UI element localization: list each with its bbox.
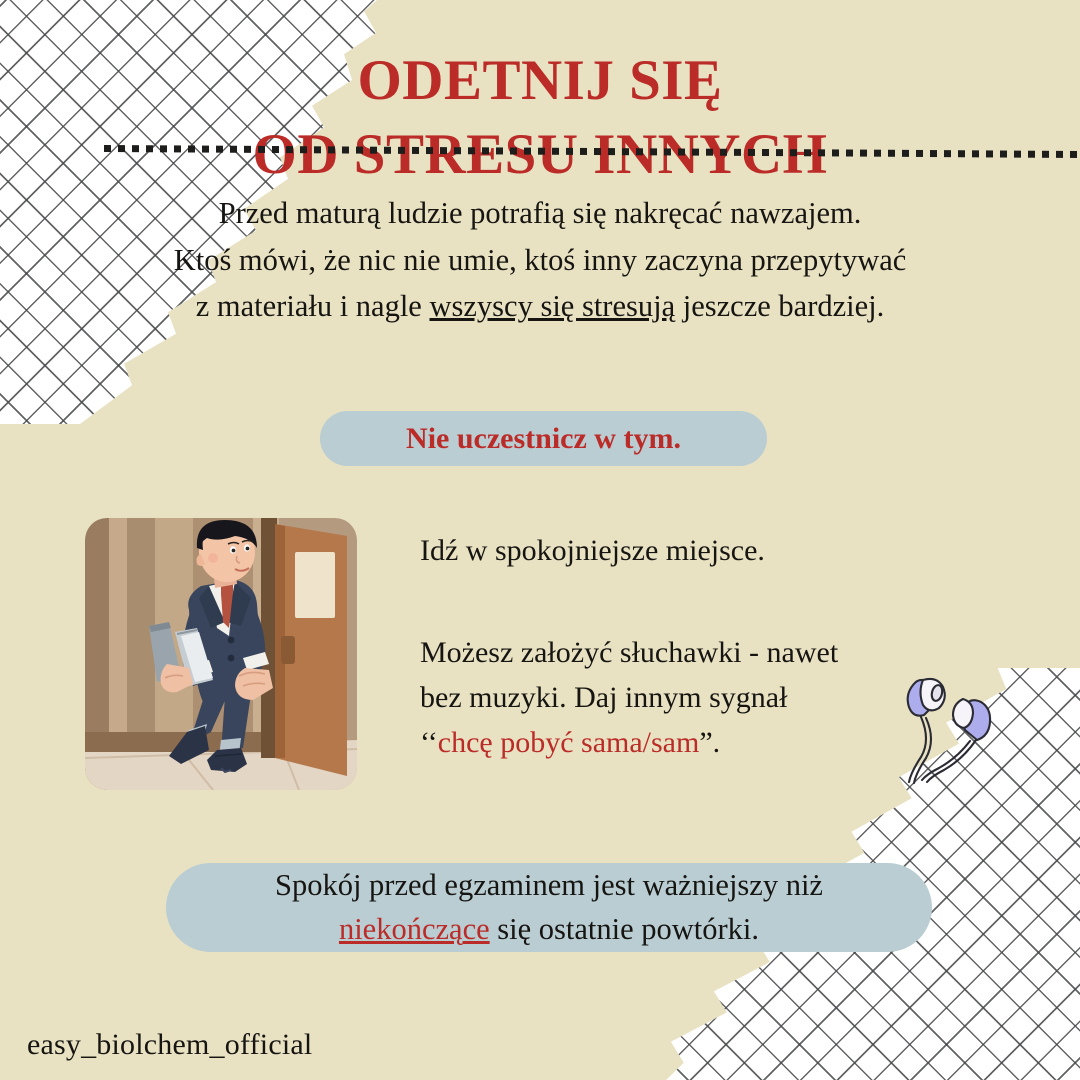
- callout-pill-top: Nie uczestnicz w tym.: [320, 411, 767, 466]
- intro-line-3-prefix: z materiału i nagle: [196, 289, 430, 323]
- intro-line-1: Przed maturą ludzie potrafią się nakręca…: [60, 190, 1020, 237]
- headline-line-1: ODETNIJ SIĘ: [0, 44, 1080, 118]
- page-title: ODETNIJ SIĘ OD STRESU INNYCH: [0, 44, 1080, 192]
- quote-emphasis: chcę pobyć sama/sam: [438, 726, 700, 759]
- illustration-person-walking-through-door: [85, 518, 357, 790]
- callout-pill-bottom-line-1: Spokój przed egzaminem jest ważniejszy n…: [275, 864, 823, 907]
- callout-pill-bottom: Spokój przed egzaminem jest ważniejszy n…: [166, 863, 932, 952]
- quote-open: ‘‘: [420, 726, 438, 759]
- intro-emphasis-underlined: wszyscy się stresują: [429, 289, 675, 323]
- intro-line-2: Ktoś mówi, że nic nie umie, ktoś inny za…: [60, 237, 1020, 284]
- poster-canvas: ODETNIJ SIĘ OD STRESU INNYCH Przed matur…: [0, 0, 1080, 1080]
- earbuds-illustration: [893, 662, 1019, 788]
- intro-paragraph: Przed maturą ludzie potrafią się nakręca…: [60, 190, 1020, 330]
- right-copy-spacer: [420, 573, 980, 630]
- quote-close: ”.: [699, 726, 720, 759]
- callout-pill-bottom-line-2-rest: się ostatnie powtórki.: [490, 912, 759, 946]
- earbuds-icon: [893, 662, 1019, 788]
- right-copy-paragraph-1: Idź w spokojniejsze miejsce.: [420, 528, 980, 573]
- intro-line-3-suffix: jeszcze bardziej.: [675, 289, 884, 323]
- callout-emphasis-underlined: niekończące: [339, 912, 490, 946]
- callout-pill-top-label: Nie uczestnicz w tym.: [406, 422, 681, 456]
- intro-line-3: z materiału i nagle wszyscy się stresują…: [60, 283, 1020, 330]
- callout-pill-bottom-line-2: niekończące się ostatnie powtórki.: [339, 908, 759, 951]
- account-handle: easy_biolchem_official: [27, 1028, 312, 1062]
- illustration-svg: [85, 518, 357, 790]
